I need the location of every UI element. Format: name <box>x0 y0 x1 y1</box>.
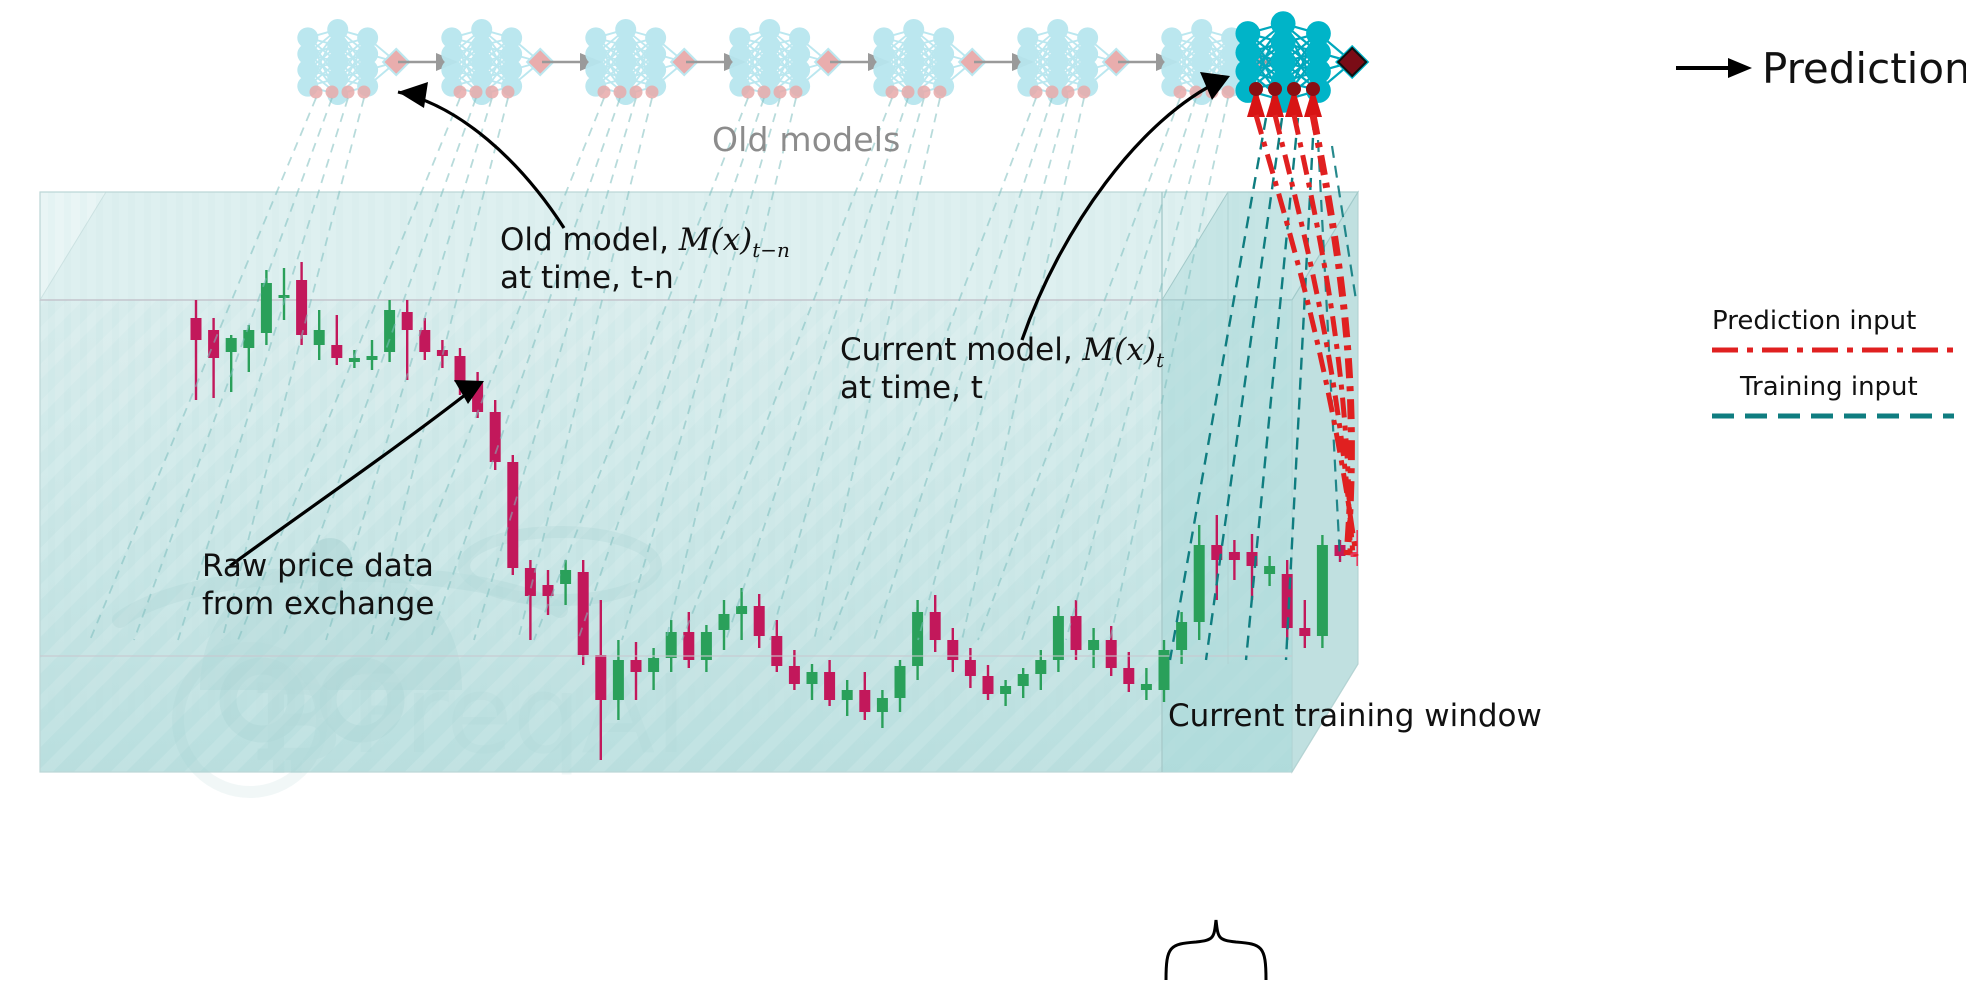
candle <box>613 660 624 700</box>
network-input-dot <box>486 86 499 99</box>
network-input-dot <box>502 86 515 99</box>
network-input-dot <box>1078 86 1091 99</box>
candle <box>279 295 290 298</box>
network-input-dot <box>1046 86 1059 99</box>
candle <box>1317 545 1328 636</box>
raw-price-annotation-line2: from exchange <box>202 586 542 624</box>
candle <box>771 636 782 666</box>
candle <box>807 672 818 684</box>
training-window-brace <box>1166 920 1266 980</box>
candle <box>1176 622 1187 650</box>
candle <box>243 330 254 348</box>
candle <box>490 412 501 462</box>
current-training-window-label: Current training window <box>1168 698 1542 734</box>
candle <box>1000 686 1011 694</box>
candle <box>261 283 272 333</box>
network-input-dot <box>1030 86 1043 99</box>
old-model-annotation-math: M(x) <box>679 222 752 258</box>
network-input-dot <box>1222 86 1235 99</box>
candle <box>1194 545 1205 622</box>
network-input-dot <box>918 86 931 99</box>
candle <box>983 676 994 694</box>
candle <box>226 338 237 352</box>
old-model-annotation-line2: at time, t-n <box>500 260 900 298</box>
candle <box>719 614 730 630</box>
network-input-dot <box>358 86 371 99</box>
candle <box>666 632 677 658</box>
current-model-annotation-prefix: Current model, <box>840 332 1083 368</box>
network-input-dot <box>1062 86 1075 99</box>
candle <box>595 655 606 700</box>
diagram-svg: ₿ FreqAI <box>0 0 1966 981</box>
candle <box>895 666 906 698</box>
candle <box>754 606 765 636</box>
svg-text:₿: ₿ <box>250 657 341 787</box>
candle <box>648 658 659 672</box>
raw-price-annotation-line1: Raw price data <box>202 548 542 586</box>
legend-item-training-input: Training input <box>1740 372 1918 402</box>
network-input-dot <box>454 86 467 99</box>
network-input-dot <box>790 86 803 99</box>
candle <box>1035 660 1046 674</box>
candle <box>419 330 430 352</box>
candle <box>1106 640 1117 668</box>
candle <box>1141 684 1152 690</box>
prediction-output-diamond <box>1338 48 1366 76</box>
network-input-dot <box>614 86 627 99</box>
candle <box>1123 668 1134 684</box>
network-input-dot <box>742 86 755 99</box>
candle <box>331 345 342 358</box>
network-input-dot <box>470 86 483 99</box>
old-model-annotation: Old model, M(x)t−n at time, t-n <box>500 222 900 298</box>
old-model-annotation-prefix: Old model, <box>500 222 679 258</box>
network-input-dot <box>598 86 611 99</box>
network-input-dot <box>342 86 355 99</box>
network-input-dot <box>902 86 915 99</box>
candle <box>824 672 835 700</box>
candle <box>191 318 202 340</box>
candle <box>877 698 888 712</box>
old-model-annotation-subscript: t−n <box>752 238 790 262</box>
candle <box>1053 616 1064 660</box>
network-input-dot <box>774 86 787 99</box>
candle <box>455 356 466 382</box>
candle <box>631 660 642 672</box>
old-models-label: Old models <box>712 120 901 159</box>
candle <box>1088 640 1099 650</box>
network-input-dot <box>886 86 899 99</box>
candle <box>842 690 853 700</box>
candle <box>965 660 976 676</box>
candle <box>1071 616 1082 650</box>
current-model-annotation: Current model, M(x)t at time, t <box>840 332 1260 408</box>
network-input-dot <box>310 86 323 99</box>
network-input-dot <box>646 86 659 99</box>
network-input-dot <box>934 86 947 99</box>
candle <box>560 570 571 584</box>
candle <box>1018 674 1029 686</box>
network-input-dot <box>630 86 643 99</box>
current-model-annotation-line2: at time, t <box>840 370 1260 408</box>
current-model-annotation-math: M(x) <box>1083 332 1156 368</box>
current-model-network <box>1235 11 1367 117</box>
candle <box>296 280 307 335</box>
candle <box>789 666 800 684</box>
candle <box>402 312 413 330</box>
candle <box>930 612 941 640</box>
network-input-dot <box>758 86 771 99</box>
diagram-canvas: ₿ FreqAI <box>0 0 1966 981</box>
candle <box>1229 552 1240 560</box>
candle <box>367 356 378 360</box>
candle <box>1299 628 1310 636</box>
candle <box>1264 566 1275 574</box>
candle <box>349 358 360 362</box>
candle <box>859 690 870 712</box>
current-model-annotation-subscript: t <box>1156 348 1164 372</box>
candle <box>314 330 325 345</box>
prediction-label: Prediction <box>1762 44 1966 93</box>
network-input-dot <box>326 86 339 99</box>
legend-item-prediction-input: Prediction input <box>1712 306 1916 336</box>
raw-price-annotation: Raw price data from exchange <box>202 548 542 624</box>
network-input-dot <box>1174 86 1187 99</box>
